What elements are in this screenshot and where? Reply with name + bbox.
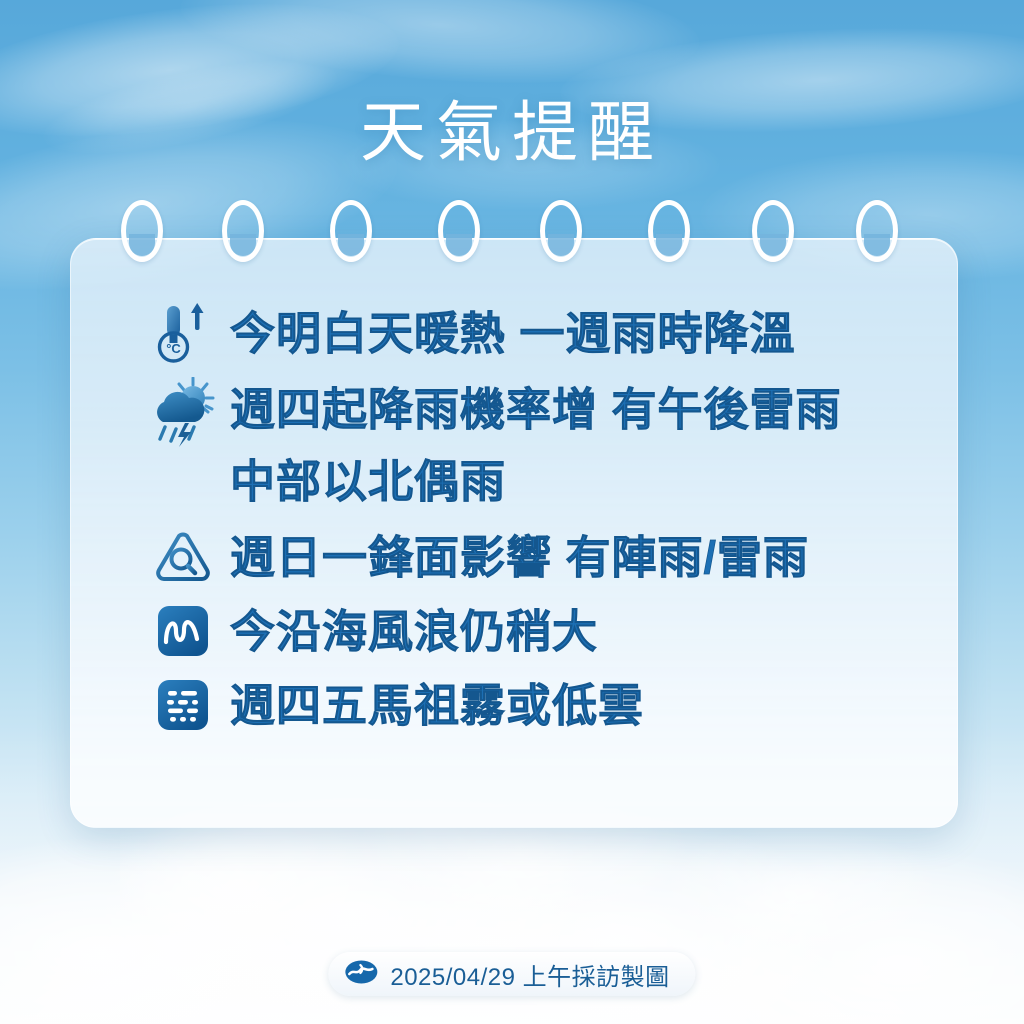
list-item-text: 週四起降雨機率增 有午後雷雨 中部以北偶雨 <box>216 374 842 518</box>
sun-cloud-thunderstorm-icon <box>150 374 216 450</box>
svg-text:°C: °C <box>166 341 181 356</box>
list-item-line: 週四五馬祖霧或低雲 <box>230 680 644 731</box>
fog-low-cloud-icon <box>150 672 216 738</box>
credit-text: 2025/04/29 上午採訪製圖 <box>390 957 669 992</box>
warning-triangle-magnifier-icon <box>150 524 216 590</box>
ftv-wave-logo-icon <box>344 959 378 990</box>
credit-badge: 2025/04/29 上午採訪製圖 <box>328 952 695 996</box>
list-item-line-2: 中部以北偶雨 <box>230 446 842 518</box>
weather-alert-list: °C 今明白天暖熱 一週雨時降溫 <box>150 300 940 746</box>
spiral-ring <box>121 200 163 262</box>
list-item-text: 今沿海風浪仍稍大 <box>216 598 598 666</box>
sea-wave-icon <box>150 598 216 664</box>
spiral-ring <box>222 200 264 262</box>
spiral-ring <box>540 200 582 262</box>
list-item-line: 今沿海風浪仍稍大 <box>230 606 598 657</box>
list-item: °C 今明白天暖熱 一週雨時降溫 <box>150 300 940 368</box>
list-item-line: 週四起降雨機率增 有午後雷雨 <box>230 384 842 435</box>
list-item: 週四起降雨機率增 有午後雷雨 中部以北偶雨 <box>150 374 940 518</box>
list-item-line: 今明白天暖熱 一週雨時降溫 <box>230 308 796 359</box>
list-item: 週四五馬祖霧或低雲 <box>150 672 940 740</box>
list-item-line: 週日一鋒面影響 有陣雨/雷雨 <box>230 532 809 583</box>
spiral-ring <box>752 200 794 262</box>
spiral-ring <box>330 200 372 262</box>
list-item: 今沿海風浪仍稍大 <box>150 598 940 666</box>
list-item-text: 週四五馬祖霧或低雲 <box>216 672 644 740</box>
spiral-ring <box>438 200 480 262</box>
page-title: 天氣提醒 <box>0 96 1024 168</box>
list-item: 週日一鋒面影響 有陣雨/雷雨 <box>150 524 940 592</box>
thermometer-icon: °C <box>150 300 216 366</box>
spiral-ring <box>648 200 690 262</box>
list-item-text: 今明白天暖熱 一週雨時降溫 <box>216 300 796 368</box>
list-item-text: 週日一鋒面影響 有陣雨/雷雨 <box>216 524 809 592</box>
spiral-ring <box>856 200 898 262</box>
cloud-wisp <box>177 0 703 98</box>
